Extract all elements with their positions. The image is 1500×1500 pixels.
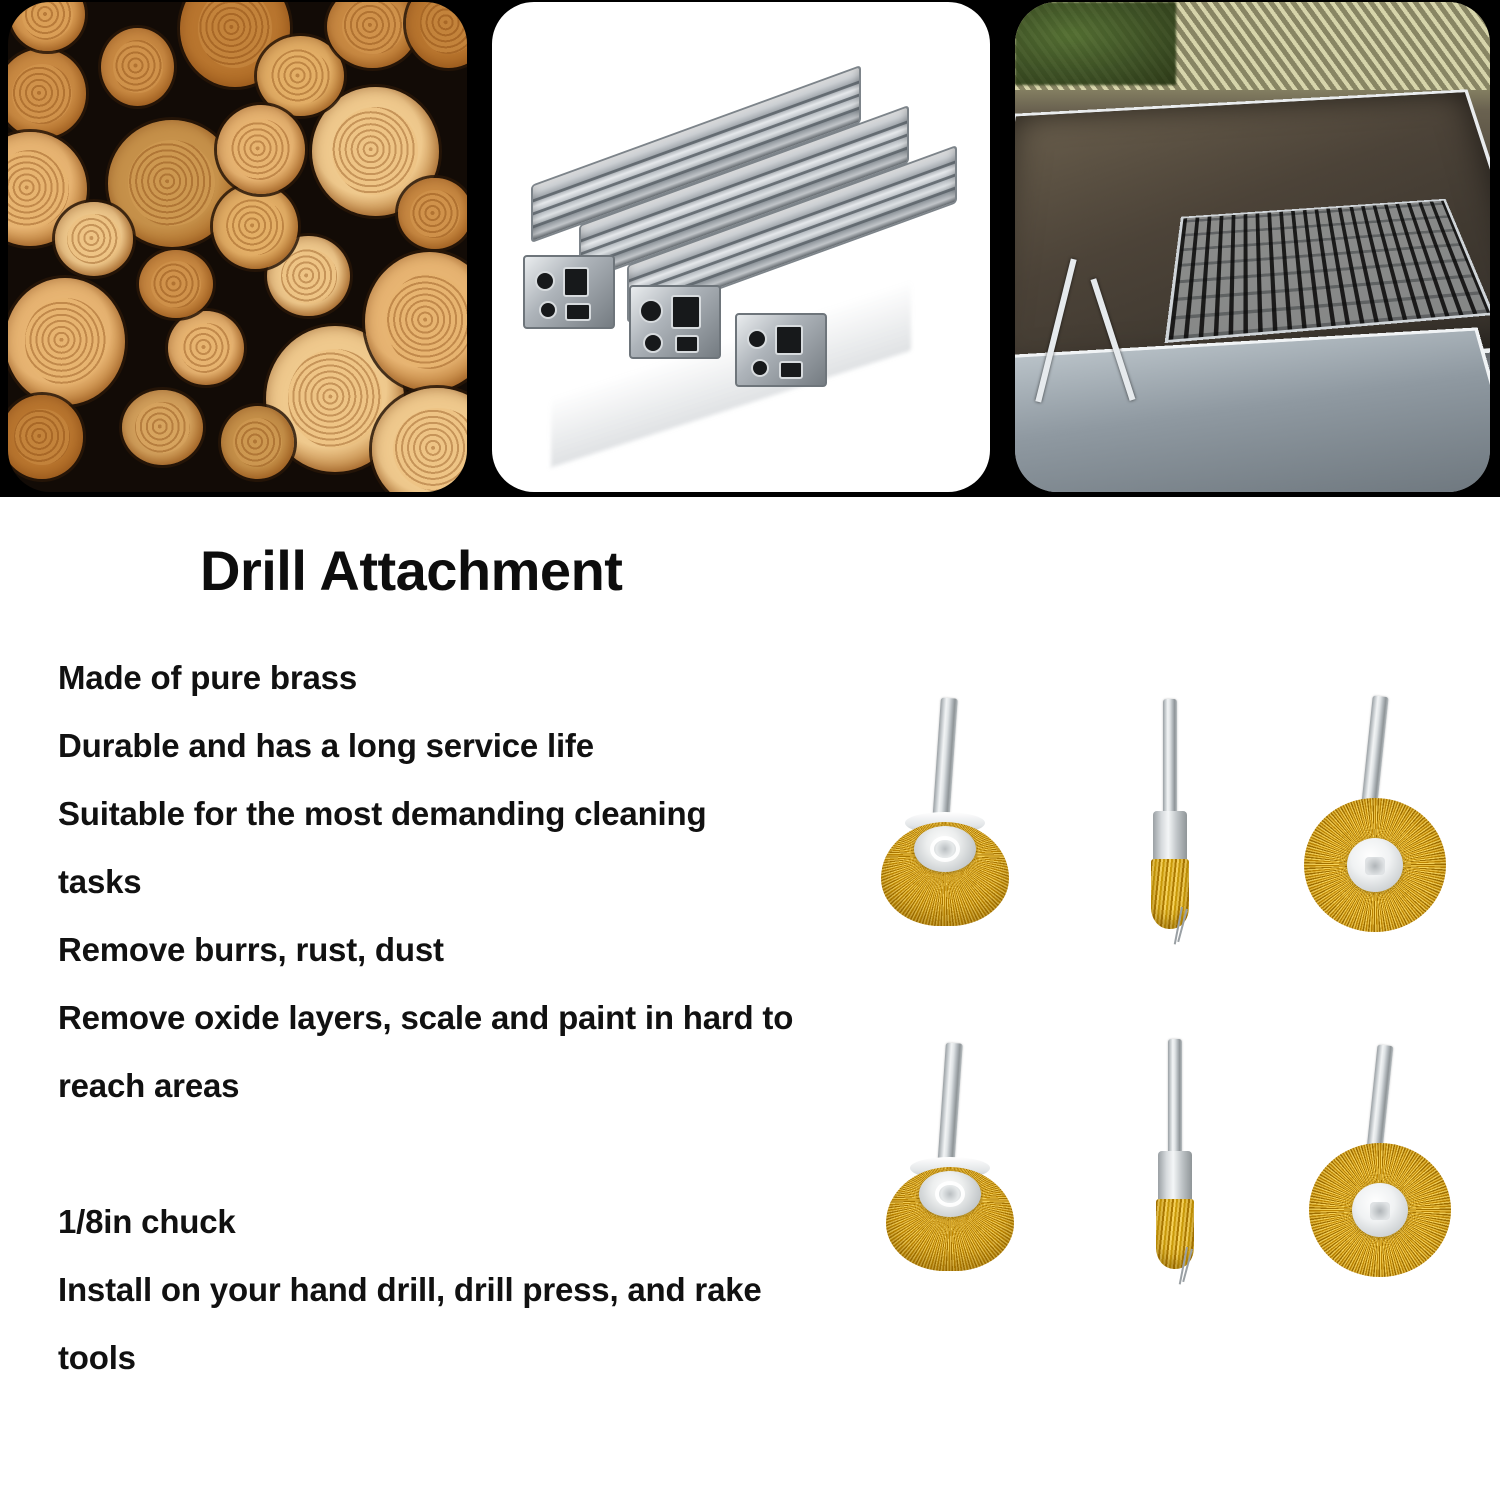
feature-line: 1/8in chuck — [58, 1188, 888, 1256]
log-end — [217, 105, 305, 194]
brush-shank — [937, 1043, 963, 1170]
feature-line: Remove oxide layers, scale and paint in … — [58, 984, 888, 1052]
log-end — [406, 2, 467, 68]
log-end — [10, 2, 84, 51]
extrusion-cross-section-right — [735, 313, 827, 387]
gallery-panel-logs — [0, 0, 467, 497]
feature-list-secondary: 1/8in chuck Install on your hand drill, … — [58, 1188, 888, 1392]
product-photo-gallery — [0, 0, 1500, 497]
feature-list-primary: Made of pure brass Durable and has a lon… — [58, 644, 888, 1120]
brass-cup-brush — [850, 1025, 1050, 1325]
brush-shank — [1361, 695, 1388, 806]
brass-cup-brush — [845, 680, 1045, 980]
log-end — [101, 28, 174, 106]
feature-line: Made of pure brass — [58, 644, 888, 712]
dirty-bbq-grill-photo — [1015, 2, 1490, 492]
log-end — [8, 395, 83, 478]
product-image-grid — [845, 680, 1485, 1330]
brush-head-wheel — [1309, 1143, 1451, 1277]
brush-shank — [1367, 1044, 1394, 1151]
brush-shank — [932, 698, 958, 825]
log-end — [168, 311, 244, 385]
brush-shank — [1168, 1039, 1182, 1167]
feature-line: Remove burrs, rust, dust — [58, 916, 888, 984]
feature-line: Durable and has a long service life — [58, 712, 888, 780]
log-end — [122, 390, 203, 465]
page-title: Drill Attachment — [200, 538, 622, 603]
log-end — [398, 178, 467, 249]
gallery-divider — [990, 0, 1015, 497]
log-end — [139, 250, 213, 318]
brush-head-wheel — [1304, 798, 1446, 932]
brass-end-brush — [1070, 685, 1270, 985]
gallery-panel-extrusions — [492, 0, 989, 497]
feature-line: Suitable for the most demanding cleaning — [58, 780, 888, 848]
log-end — [221, 406, 294, 479]
log-end — [55, 202, 134, 276]
log-end — [8, 278, 125, 405]
extrusion-cross-section-left — [523, 255, 615, 329]
feature-line: tasks — [58, 848, 888, 916]
log-end — [257, 36, 345, 116]
brush-head-cup — [886, 1167, 1014, 1271]
brush-head-end — [1147, 811, 1193, 929]
feature-line: Install on your hand drill, drill press,… — [58, 1256, 888, 1324]
grill-ash-tray — [1015, 328, 1490, 492]
feature-line: reach areas — [58, 1052, 888, 1120]
brush-head-cup — [881, 822, 1009, 926]
brush-head-end — [1152, 1151, 1198, 1269]
feature-line: tools — [58, 1324, 888, 1392]
log-end — [8, 49, 86, 137]
brass-wheel-brush — [1275, 680, 1475, 980]
stacked-cut-logs-photo — [8, 2, 467, 492]
gallery-divider — [467, 0, 492, 497]
aluminium-extrusion-profiles-photo — [492, 2, 989, 492]
extrusion-cross-section-middle — [629, 285, 721, 359]
brass-end-brush — [1075, 1025, 1275, 1325]
log-end — [213, 184, 298, 269]
log-end — [327, 2, 418, 68]
brush-shank — [1163, 699, 1177, 827]
gallery-panel-grill — [1015, 0, 1500, 497]
brass-wheel-brush — [1280, 1035, 1480, 1335]
